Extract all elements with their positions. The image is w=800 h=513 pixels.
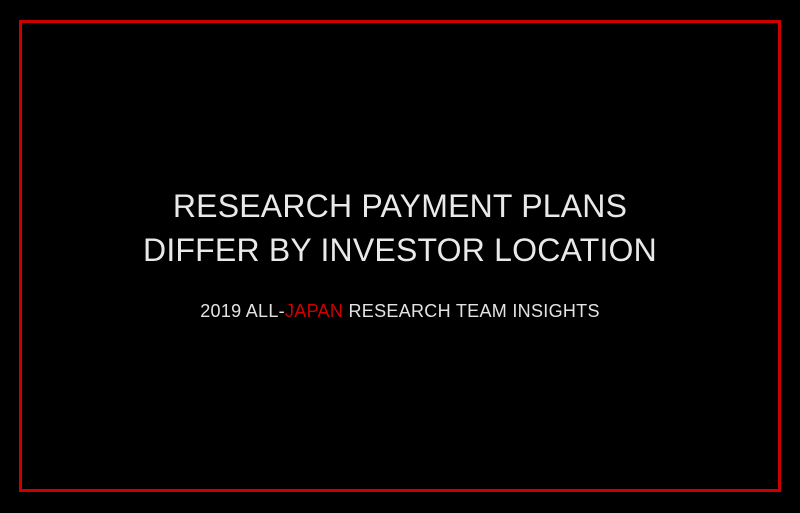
title-slide: RESEARCH PAYMENT PLANS DIFFER BY INVESTO… [0,0,800,513]
page-subtitle: 2019 ALL-JAPAN RESEARCH TEAM INSIGHTS [200,300,600,322]
page-title-line-2: DIFFER BY INVESTOR LOCATION [143,228,657,272]
slide-content: RESEARCH PAYMENT PLANS DIFFER BY INVESTO… [0,0,800,513]
subtitle-suffix: RESEARCH TEAM INSIGHTS [343,301,600,321]
subtitle-prefix: 2019 ALL- [200,301,285,321]
page-title-line-1: RESEARCH PAYMENT PLANS [143,184,657,228]
subtitle-accent-japan: JAPAN [285,301,343,321]
page-title: RESEARCH PAYMENT PLANS DIFFER BY INVESTO… [143,184,657,272]
